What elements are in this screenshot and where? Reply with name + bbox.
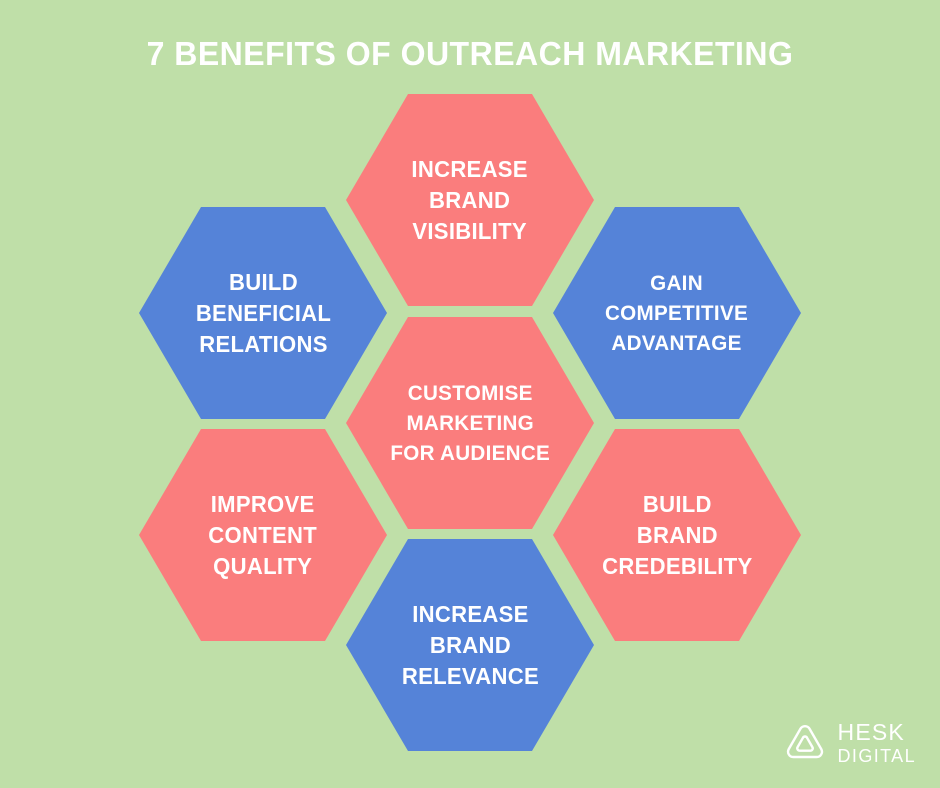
- benefit-hexagon-increase-brand-visibility[interactable]: INCREASE BRAND VISIBILITY: [346, 94, 594, 306]
- benefit-hexagon-build-beneficial-relations[interactable]: BUILD BENEFICIAL RELATIONS: [139, 207, 387, 419]
- benefit-hexagon-gain-competitive-advantage[interactable]: GAIN COMPETITIVE ADVANTAGE: [553, 207, 801, 419]
- benefit-label: IMPROVE CONTENT QUALITY: [209, 489, 318, 582]
- benefit-hexagon-increase-brand-relevance[interactable]: INCREASE BRAND RELEVANCE: [346, 539, 594, 751]
- logo-name: HESK: [838, 721, 916, 744]
- benefit-hexagon-build-brand-credebility[interactable]: BUILD BRAND CREDEBILITY: [553, 429, 801, 641]
- brand-logo: HESK DIGITAL: [782, 720, 916, 766]
- rounded-triangle-icon: [782, 720, 828, 766]
- benefit-label: GAIN COMPETITIVE ADVANTAGE: [605, 268, 748, 358]
- hexagon-grid: INCREASE BRAND VISIBILITY BUILD BENEFICI…: [0, 0, 940, 788]
- benefit-hexagon-customise-marketing-for-audience[interactable]: CUSTOMISE MARKETING FOR AUDIENCE: [346, 317, 594, 529]
- benefit-label: CUSTOMISE MARKETING FOR AUDIENCE: [390, 378, 550, 468]
- logo-subtitle: DIGITAL: [838, 747, 916, 765]
- logo-wordmark: HESK DIGITAL: [838, 721, 916, 765]
- benefit-label: BUILD BRAND CREDEBILITY: [602, 489, 752, 582]
- infographic-poster: 7 BENEFITS OF OUTREACH MARKETING INCREAS…: [0, 0, 940, 788]
- benefit-hexagon-improve-content-quality[interactable]: IMPROVE CONTENT QUALITY: [139, 429, 387, 641]
- benefit-label: BUILD BENEFICIAL RELATIONS: [195, 267, 330, 360]
- benefit-label: INCREASE BRAND VISIBILITY: [412, 154, 528, 247]
- benefit-label: INCREASE BRAND RELEVANCE: [401, 599, 538, 692]
